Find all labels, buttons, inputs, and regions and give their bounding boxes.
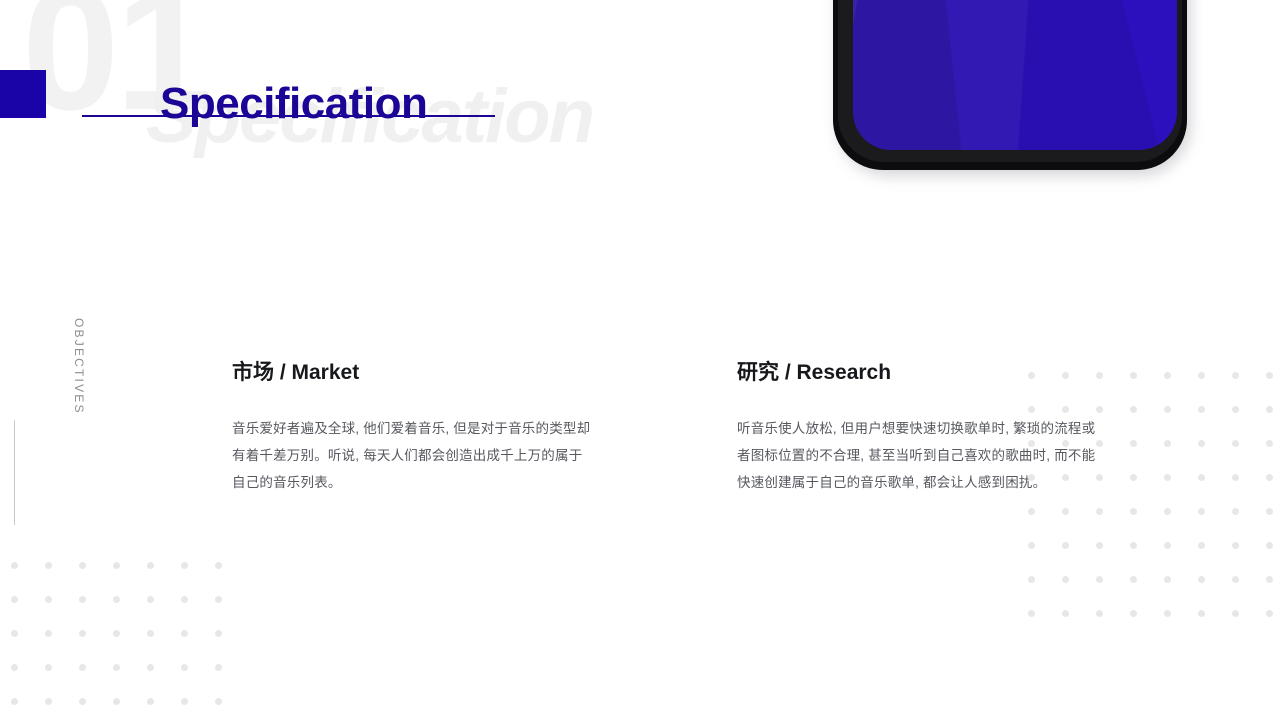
- grid-dot: [181, 630, 188, 637]
- grid-dot: [1096, 610, 1103, 617]
- column-body-research: 听音乐使人放松, 但用户想要快速切换歌单时, 繁琐的流程或者图标位置的不合理, …: [737, 415, 1097, 496]
- grid-dot: [215, 698, 222, 705]
- column-body-market: 音乐爱好者遍及全球, 他们爱着音乐, 但是对于音乐的类型却有着千差万别。听说, …: [232, 415, 592, 496]
- grid-dot: [1266, 474, 1273, 481]
- grid-dot: [79, 698, 86, 705]
- slide-canvas: 01 Specification Specification OBJECTIVE…: [0, 0, 1280, 720]
- grid-dot: [1130, 542, 1137, 549]
- column-title-research: 研究 / Research: [737, 360, 1097, 385]
- grid-dot: [11, 698, 18, 705]
- grid-dot: [1232, 508, 1239, 515]
- grid-dot: [1198, 610, 1205, 617]
- grid-dot: [1198, 440, 1205, 447]
- grid-dot: [1232, 542, 1239, 549]
- content-column-market: 市场 / Market 音乐爱好者遍及全球, 他们爱着音乐, 但是对于音乐的类型…: [232, 360, 592, 496]
- grid-dot: [181, 596, 188, 603]
- grid-dot: [1164, 508, 1171, 515]
- grid-dot: [113, 664, 120, 671]
- grid-dot: [1198, 406, 1205, 413]
- grid-dot: [181, 698, 188, 705]
- grid-dot: [1130, 474, 1137, 481]
- grid-dot: [45, 630, 52, 637]
- grid-dot: [45, 596, 52, 603]
- grid-dot: [1062, 610, 1069, 617]
- grid-dot: [1266, 372, 1273, 379]
- grid-dot: [79, 664, 86, 671]
- grid-dot: [11, 562, 18, 569]
- grid-dot: [147, 596, 154, 603]
- phone-mockup: [833, 0, 1195, 180]
- grid-dot: [1198, 372, 1205, 379]
- grid-dot: [1096, 542, 1103, 549]
- grid-dot: [1198, 474, 1205, 481]
- column-title-market: 市场 / Market: [232, 360, 592, 385]
- grid-dot: [1232, 372, 1239, 379]
- grid-dot: [79, 562, 86, 569]
- grid-dot: [1130, 372, 1137, 379]
- grid-dot: [1028, 542, 1035, 549]
- grid-dot: [215, 562, 222, 569]
- grid-dot: [1164, 542, 1171, 549]
- grid-dot: [1062, 576, 1069, 583]
- phone-screen-artwork: [853, 0, 1177, 150]
- grid-dot: [215, 596, 222, 603]
- page-title: Specification: [160, 82, 427, 126]
- grid-dot: [113, 596, 120, 603]
- grid-dot: [147, 698, 154, 705]
- grid-dot: [1232, 406, 1239, 413]
- grid-dot: [1198, 576, 1205, 583]
- phone-screen: [853, 0, 1177, 150]
- content-column-research: 研究 / Research 听音乐使人放松, 但用户想要快速切换歌单时, 繁琐的…: [737, 360, 1097, 496]
- grid-dot: [1164, 406, 1171, 413]
- grid-dot: [79, 630, 86, 637]
- side-label-group: OBJECTIVES: [72, 318, 92, 528]
- grid-dot: [1266, 610, 1273, 617]
- grid-dot: [1062, 508, 1069, 515]
- grid-dot: [1164, 372, 1171, 379]
- dot-grid-left: [0, 540, 260, 720]
- grid-dot: [1130, 406, 1137, 413]
- grid-dot: [11, 630, 18, 637]
- accent-square: [0, 70, 46, 118]
- grid-dot: [1164, 440, 1171, 447]
- phone-frame-inner: [838, 0, 1182, 162]
- grid-dot: [147, 562, 154, 569]
- grid-dot: [1096, 576, 1103, 583]
- grid-dot: [1232, 576, 1239, 583]
- side-label-rule: [14, 420, 15, 525]
- grid-dot: [45, 562, 52, 569]
- grid-dot: [1164, 576, 1171, 583]
- grid-dot: [79, 596, 86, 603]
- grid-dot: [1266, 576, 1273, 583]
- grid-dot: [113, 698, 120, 705]
- grid-dot: [147, 630, 154, 637]
- objectives-label: OBJECTIVES: [72, 318, 86, 415]
- grid-dot: [181, 562, 188, 569]
- phone-frame: [833, 0, 1187, 170]
- grid-dot: [1266, 508, 1273, 515]
- grid-dot: [1198, 508, 1205, 515]
- grid-dot: [1130, 508, 1137, 515]
- grid-dot: [1164, 610, 1171, 617]
- grid-dot: [1130, 576, 1137, 583]
- grid-dot: [113, 630, 120, 637]
- grid-dot: [1232, 440, 1239, 447]
- grid-dot: [1062, 542, 1069, 549]
- grid-dot: [1232, 610, 1239, 617]
- grid-dot: [215, 664, 222, 671]
- grid-dot: [1028, 508, 1035, 515]
- grid-dot: [1266, 440, 1273, 447]
- grid-dot: [1164, 474, 1171, 481]
- grid-dot: [1232, 474, 1239, 481]
- grid-dot: [1130, 440, 1137, 447]
- grid-dot: [11, 596, 18, 603]
- grid-dot: [147, 664, 154, 671]
- grid-dot: [113, 562, 120, 569]
- grid-dot: [1130, 610, 1137, 617]
- grid-dot: [1028, 610, 1035, 617]
- grid-dot: [11, 664, 18, 671]
- grid-dot: [1266, 406, 1273, 413]
- grid-dot: [1028, 576, 1035, 583]
- grid-dot: [45, 664, 52, 671]
- grid-dot: [181, 664, 188, 671]
- grid-dot: [1198, 542, 1205, 549]
- grid-dot: [1096, 508, 1103, 515]
- grid-dot: [1266, 542, 1273, 549]
- grid-dot: [45, 698, 52, 705]
- grid-dot: [215, 630, 222, 637]
